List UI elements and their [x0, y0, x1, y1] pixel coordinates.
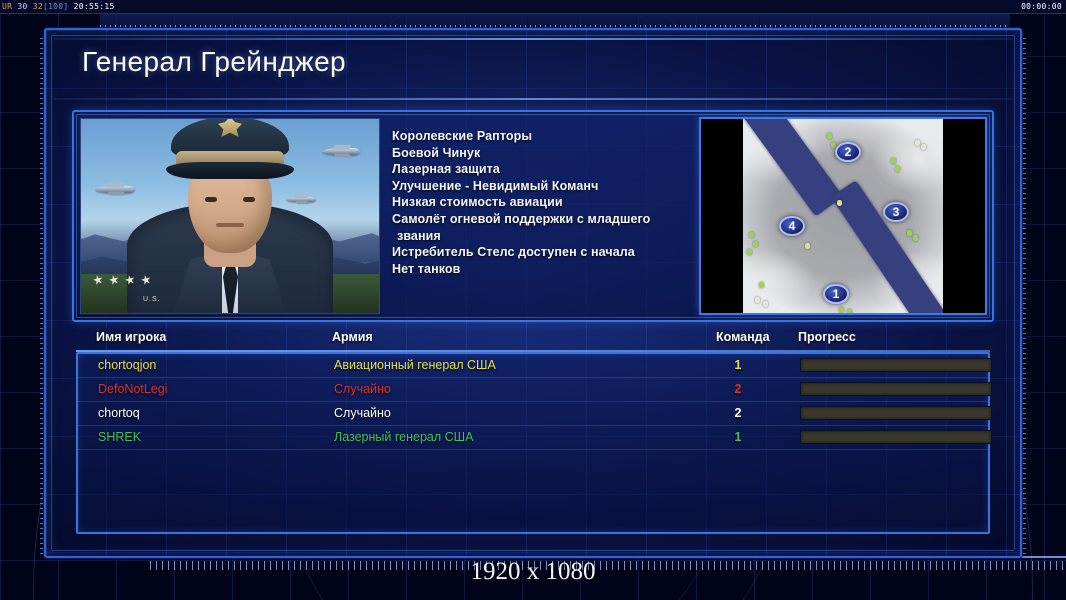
- player-team[interactable]: 2: [726, 406, 750, 420]
- page-title: Генерал Грейнджер: [82, 46, 346, 78]
- player-army[interactable]: Случайно: [334, 382, 391, 396]
- ability-item: Лазерная защита: [392, 161, 704, 178]
- player-name: DefoNotLegi: [98, 382, 168, 396]
- lobby-window: Генерал Грейнджер: [44, 28, 1022, 558]
- ability-item: Самолёт огневой поддержки с младшего: [392, 211, 704, 228]
- status-clock: 20:55:15: [74, 2, 115, 11]
- status-num-2: 32: [33, 2, 43, 11]
- player-name: SHREK: [98, 430, 141, 444]
- ability-item-continuation: звания: [392, 228, 704, 245]
- title-band: Генерал Грейнджер: [54, 38, 1012, 100]
- general-info-panel: U.S. Королевские Рапторы Боевой Чинук: [72, 110, 994, 322]
- column-header-name: Имя игрока: [96, 330, 166, 344]
- map-spawn-point[interactable]: 3: [883, 202, 909, 222]
- player-progress-bar: [800, 430, 992, 444]
- top-status-left: UR 30 32[100] 20:55:15: [2, 0, 115, 14]
- table-row[interactable]: chortoqjon Авиационный генерал США 1: [78, 354, 988, 378]
- status-label-ur: UR: [2, 2, 12, 11]
- eye-left: [205, 197, 217, 202]
- map-preview[interactable]: 2 3 4 1: [699, 117, 987, 315]
- status-num-1: 30: [17, 2, 27, 11]
- player-team[interactable]: 1: [726, 430, 750, 444]
- status-timer: 00:00:00: [1021, 0, 1062, 14]
- ability-item: Боевой Чинук: [392, 145, 704, 162]
- player-name: chortoqjon: [98, 358, 156, 372]
- map-letterbox-right: [943, 119, 985, 313]
- column-header-team: Команда: [716, 330, 770, 344]
- player-team[interactable]: 2: [726, 382, 750, 396]
- player-table: chortoqjon Авиационный генерал США 1 Def…: [76, 352, 990, 534]
- table-row[interactable]: chortoq Случайно 2: [78, 402, 988, 426]
- title-rule-top: [54, 38, 1012, 40]
- map-river: [731, 117, 843, 216]
- player-name: chortoq: [98, 406, 140, 420]
- ability-item: Истребитель Стелс доступен с начала: [392, 244, 704, 261]
- player-table-header: Имя игрока Армия Команда Прогресс: [76, 330, 990, 352]
- general-portrait: U.S.: [80, 118, 380, 314]
- ability-item: Нет танков: [392, 261, 704, 278]
- eye-right: [243, 197, 255, 202]
- map-spawn-point[interactable]: 2: [835, 142, 861, 162]
- resolution-label: 1920 x 1080: [0, 558, 1066, 586]
- ability-item: Низкая стоимость авиации: [392, 194, 704, 211]
- map-spawn-point[interactable]: 1: [823, 284, 849, 304]
- top-status-bar: UR 30 32[100] 20:55:15 00:00:00: [0, 0, 1066, 14]
- ability-item: Королевские Рапторы: [392, 128, 704, 145]
- player-army[interactable]: Случайно: [334, 406, 391, 420]
- general-figure: U.S.: [81, 119, 379, 313]
- general-abilities-list: Королевские Рапторы Боевой Чинук Лазерна…: [392, 128, 704, 277]
- mouth: [216, 223, 244, 227]
- ability-item: Улучшение - Невидимый Команч: [392, 178, 704, 195]
- cap-brim: [166, 162, 294, 179]
- map-terrain: 2 3 4 1: [743, 119, 943, 313]
- player-army[interactable]: Авиационный генерал США: [334, 358, 496, 372]
- player-progress-bar: [800, 358, 992, 372]
- app-root: UR 30 32[100] 20:55:15 00:00:00 Генерал …: [0, 0, 1066, 600]
- map-letterbox-left: [701, 119, 743, 313]
- table-row[interactable]: DefoNotLegi Случайно 2: [78, 378, 988, 402]
- player-progress-bar: [800, 406, 992, 420]
- rank-stars-icon: [93, 275, 151, 285]
- table-row[interactable]: SHREK Лазерный генерал США 1: [78, 426, 988, 450]
- column-header-progress: Прогресс: [798, 330, 856, 344]
- player-army[interactable]: Лазерный генерал США: [334, 430, 473, 444]
- player-team[interactable]: 1: [726, 358, 750, 372]
- title-rule-bottom: [54, 98, 1012, 100]
- map-spawn-point[interactable]: 4: [779, 216, 805, 236]
- column-header-army: Армия: [332, 330, 373, 344]
- us-insignia-icon: U.S.: [143, 296, 161, 303]
- status-bracket: [100]: [43, 2, 69, 11]
- player-progress-bar: [800, 382, 992, 396]
